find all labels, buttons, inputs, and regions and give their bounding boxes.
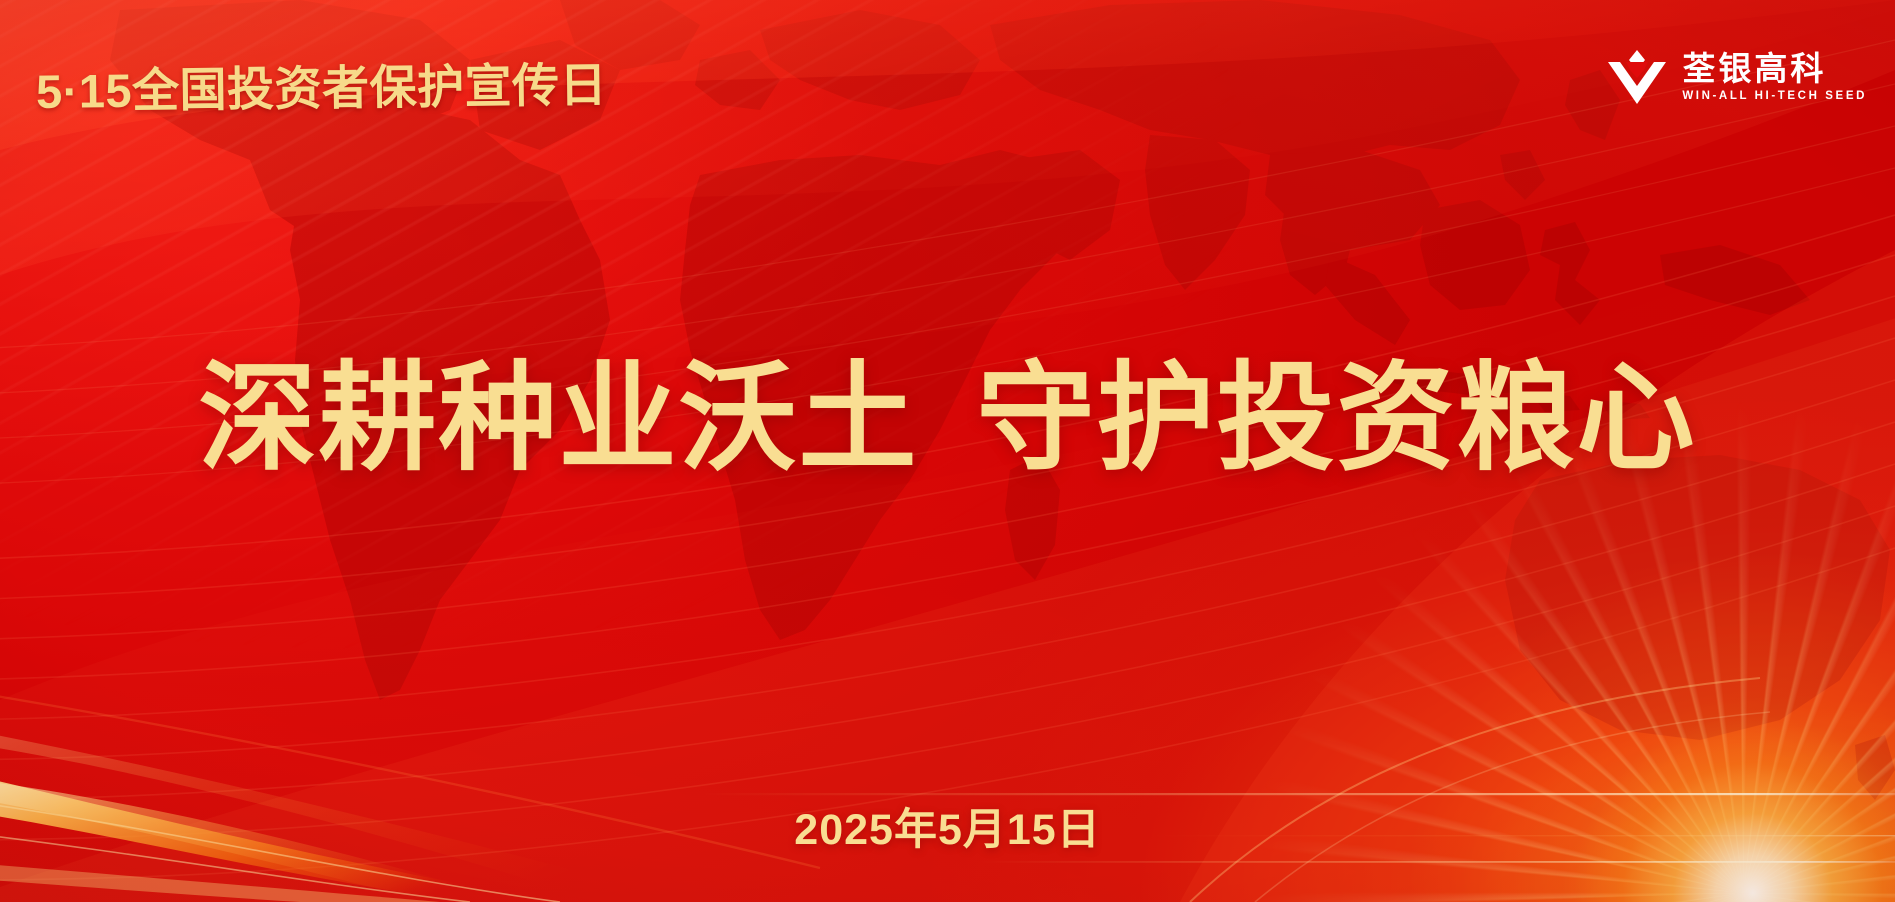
logo-name-cn: 荃银高科 xyxy=(1682,52,1867,87)
campaign-eyebrow-title: 5·15全国投资者保护宣传日 xyxy=(36,46,608,122)
banner-content: 5·15全国投资者保护宣传日 荃银高科 WIN-ALL HI-TECH SEED… xyxy=(0,0,1895,902)
slogan-part-1: 深耕种业沃土 xyxy=(198,353,918,485)
event-date: 2025年5月15日 xyxy=(0,795,1895,857)
logo-wordmark: 荃银高科 WIN-ALL HI-TECH SEED xyxy=(1682,52,1867,102)
investor-protection-banner: 5·15全国投资者保护宣传日 荃银高科 WIN-ALL HI-TECH SEED… xyxy=(0,0,1895,902)
chevron-v-mark-icon xyxy=(1606,48,1668,106)
slogan-part-2: 守护投资粮心 xyxy=(977,353,1697,485)
main-slogan: 深耕种业沃土守护投资粮心 xyxy=(0,350,1895,489)
logo-name-en: WIN-ALL HI-TECH SEED xyxy=(1682,90,1867,102)
company-logo: 荃银高科 WIN-ALL HI-TECH SEED xyxy=(1606,48,1867,106)
